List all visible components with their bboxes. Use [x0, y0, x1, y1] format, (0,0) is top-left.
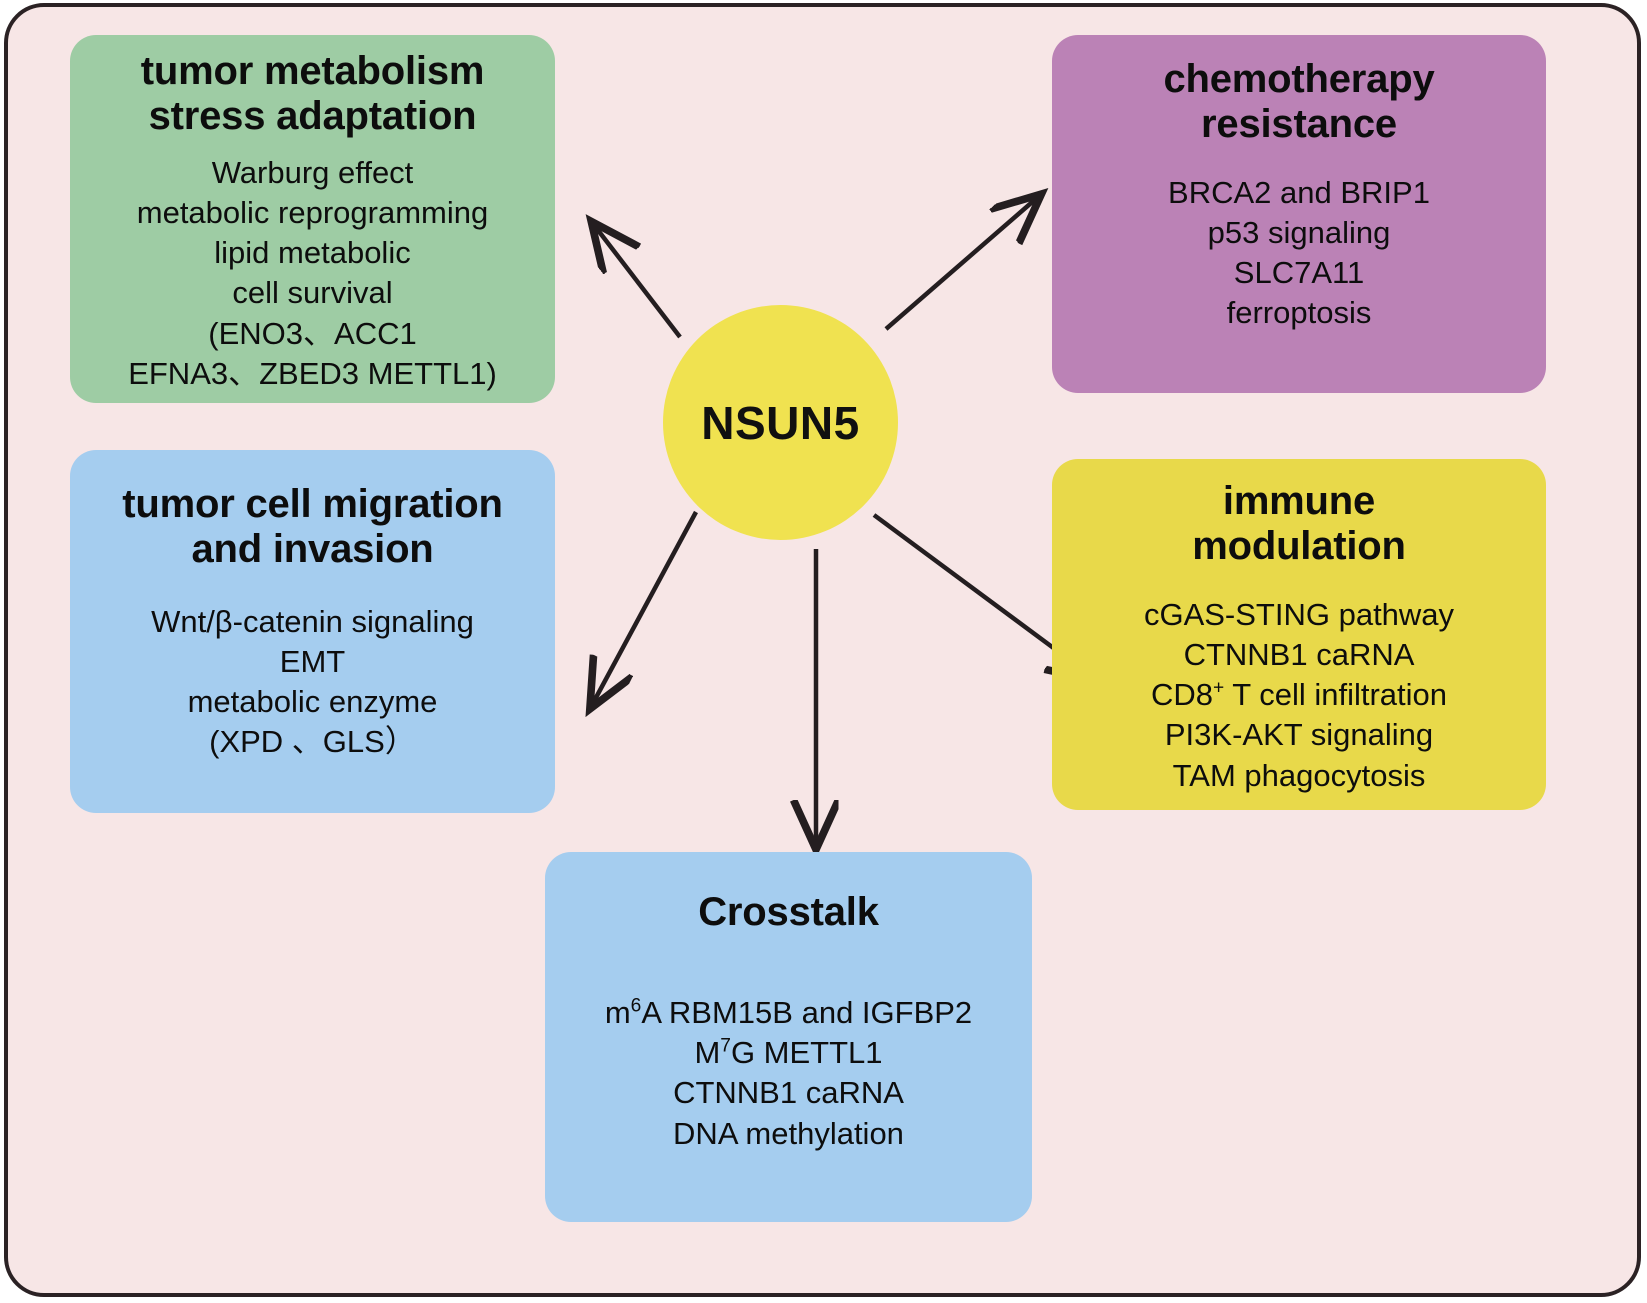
- node-body: Warburg effect metabolic reprogramming l…: [128, 153, 497, 395]
- node-immune-modulation[interactable]: immune modulation cGAS-STING pathway CTN…: [1052, 459, 1546, 810]
- figure-canvas: tumor metabolism stress adaptation Warbu…: [0, 0, 1647, 1303]
- node-tumor-cell-migration[interactable]: tumor cell migration and invasion Wnt/β-…: [70, 450, 555, 813]
- node-title: immune modulation: [1192, 479, 1406, 569]
- arrow-hub-to-migration: [592, 512, 696, 705]
- hub-nsun5[interactable]: NSUN5: [663, 305, 898, 540]
- node-body: Wnt/β-catenin signaling EMT metabolic en…: [151, 602, 474, 763]
- node-chemotherapy-resistance[interactable]: chemotherapy resistance BRCA2 and BRIP1 …: [1052, 35, 1546, 393]
- node-body-line-m6a: m6A RBM15B and IGFBP2: [605, 993, 972, 1033]
- node-body: BRCA2 and BRIP1 p53 signaling SLC7A11 fe…: [1168, 173, 1430, 334]
- node-title: tumor cell migration and invasion: [122, 482, 503, 572]
- node-title: chemotherapy resistance: [1163, 57, 1434, 147]
- node-crosstalk[interactable]: Crosstalk m6A RBM15B and IGFBP2 M7G METT…: [545, 852, 1032, 1222]
- node-body: m6A RBM15B and IGFBP2 M7G METTL1 CTNNB1 …: [605, 993, 972, 1154]
- hub-label: NSUN5: [701, 396, 859, 450]
- node-body: cGAS-STING pathway CTNNB1 caRNA CD8+ T c…: [1144, 595, 1454, 796]
- figure-frame: tumor metabolism stress adaptation Warbu…: [4, 3, 1641, 1297]
- arrow-hub-to-chemo: [886, 197, 1038, 329]
- node-title: tumor metabolism stress adaptation: [141, 49, 485, 139]
- node-tumor-metabolism[interactable]: tumor metabolism stress adaptation Warbu…: [70, 35, 555, 403]
- node-body-line-m7g: M7G METTL1: [605, 1033, 972, 1073]
- arrow-hub-to-metabolism: [594, 225, 680, 337]
- node-title: Crosstalk: [698, 890, 879, 935]
- node-body-line-cd8: CD8+ T cell infiltration: [1144, 675, 1454, 715]
